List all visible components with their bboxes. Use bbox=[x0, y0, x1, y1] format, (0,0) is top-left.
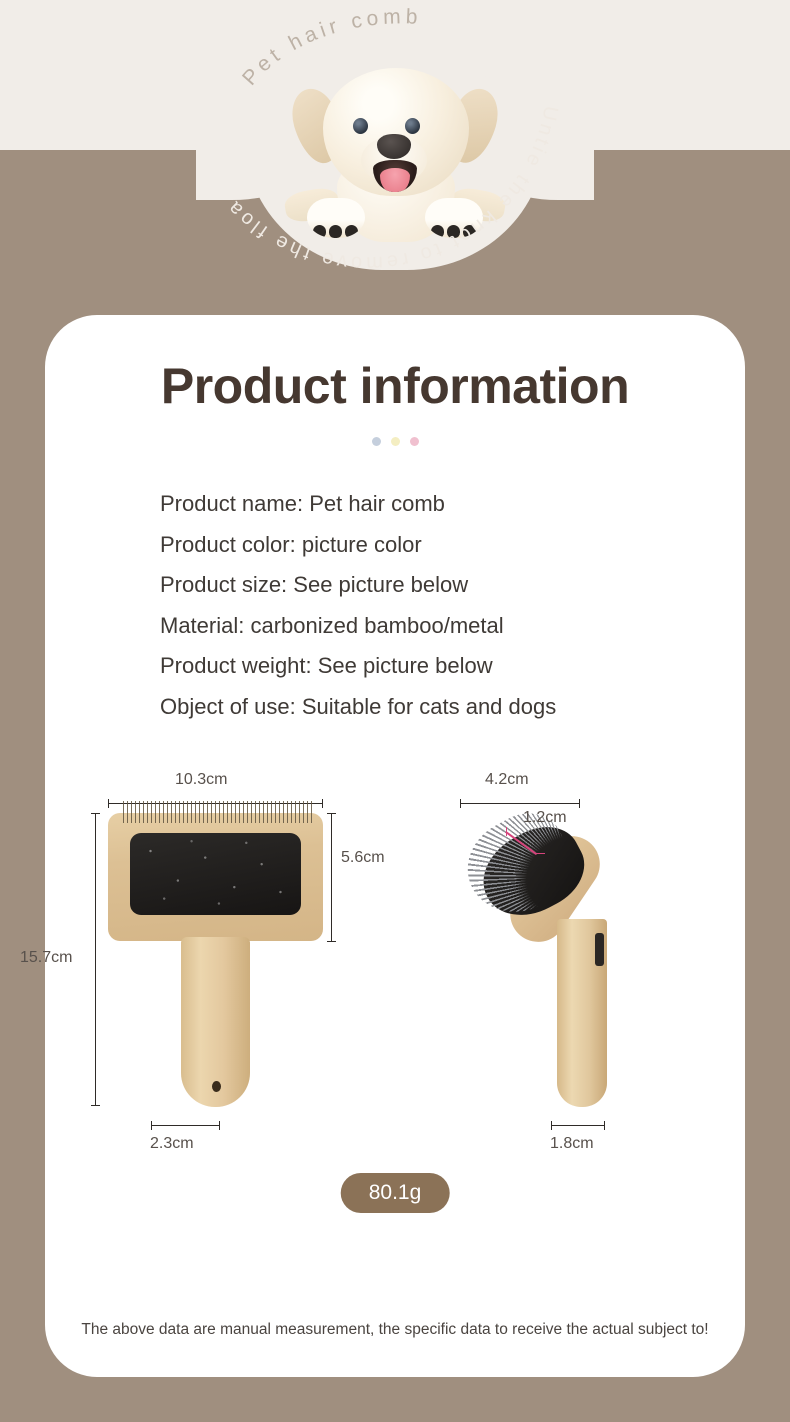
front-total-height-line bbox=[95, 813, 96, 1105]
dimension-diagram: 10.3cm 5.6cm 15.7cm bbox=[45, 761, 745, 1221]
puppy-eye-right bbox=[405, 118, 420, 134]
dot-pink bbox=[410, 437, 419, 446]
handle-hang-hole bbox=[212, 1081, 221, 1092]
brush-side-view bbox=[465, 811, 645, 1107]
puppy-image bbox=[281, 62, 509, 240]
dim-tick bbox=[327, 813, 336, 814]
front-height-line bbox=[331, 813, 332, 941]
side-width-line bbox=[460, 803, 580, 804]
dim-tick bbox=[219, 1121, 220, 1130]
dot-yellow bbox=[391, 437, 400, 446]
puppy-toe bbox=[431, 225, 444, 238]
puppy-toe bbox=[313, 225, 326, 238]
puppy-tongue bbox=[380, 168, 410, 192]
brush-pins-top bbox=[122, 801, 312, 823]
brush-pad bbox=[130, 833, 301, 915]
spec-object-of-use: Object of use: Suitable for cats and dog… bbox=[160, 687, 745, 728]
puppy-toe bbox=[447, 225, 460, 238]
side-pin-length-label: 1.2cm bbox=[523, 809, 567, 827]
puppy-toe bbox=[463, 225, 476, 238]
dim-tick bbox=[579, 799, 580, 808]
puppy-eye-left bbox=[353, 118, 368, 134]
dim-tick bbox=[151, 1121, 152, 1130]
puppy-toe bbox=[345, 225, 358, 238]
hero-banner: Pet hair comb Untie the knot to remove t… bbox=[0, 0, 790, 320]
dim-tick bbox=[91, 1105, 100, 1106]
spec-product-weight: Product weight: See picture below bbox=[160, 646, 745, 687]
dot-separator bbox=[45, 437, 745, 446]
dot-blue bbox=[372, 437, 381, 446]
side-handle-width-label: 1.8cm bbox=[550, 1135, 594, 1153]
puppy-paw-right bbox=[425, 198, 483, 238]
puppy-paw-left bbox=[307, 198, 365, 238]
disclaimer-text: The above data are manual measurement, t… bbox=[45, 1321, 745, 1339]
front-handle-width-label: 2.3cm bbox=[150, 1135, 194, 1153]
dim-tick bbox=[460, 799, 461, 808]
spec-product-size: Product size: See picture below bbox=[160, 565, 745, 606]
front-height-label: 5.6cm bbox=[341, 849, 385, 867]
brush-side-black-detail bbox=[595, 933, 604, 966]
dim-tick bbox=[91, 813, 100, 814]
weight-badge: 80.1g bbox=[341, 1173, 450, 1213]
dim-tick bbox=[322, 799, 323, 808]
brush-front-view bbox=[108, 813, 323, 1105]
side-handle-width-line bbox=[551, 1125, 605, 1126]
dim-tick bbox=[327, 941, 336, 942]
side-width-label: 4.2cm bbox=[485, 771, 529, 789]
brush-bamboo-frame bbox=[108, 813, 323, 941]
pin-callout-tick bbox=[536, 853, 545, 854]
front-handle-width-line bbox=[151, 1125, 220, 1126]
page-title: Product information bbox=[45, 357, 745, 415]
product-info-card: Product information Product name: Pet ha… bbox=[45, 315, 745, 1377]
dim-tick bbox=[551, 1121, 552, 1130]
product-detail-page: Pet hair comb Untie the knot to remove t… bbox=[0, 0, 790, 1422]
brush-pin-tips bbox=[130, 833, 301, 915]
dim-tick bbox=[108, 799, 109, 808]
puppy-toe bbox=[329, 225, 342, 238]
spec-material: Material: carbonized bamboo/metal bbox=[160, 606, 745, 647]
dim-tick bbox=[604, 1121, 605, 1130]
brush-handle-front bbox=[181, 937, 250, 1107]
spec-list: Product name: Pet hair comb Product colo… bbox=[160, 484, 745, 727]
front-width-label: 10.3cm bbox=[175, 771, 227, 789]
front-total-height-label: 15.7cm bbox=[20, 949, 72, 967]
spec-product-color: Product color: picture color bbox=[160, 525, 745, 566]
spec-product-name: Product name: Pet hair comb bbox=[160, 484, 745, 525]
